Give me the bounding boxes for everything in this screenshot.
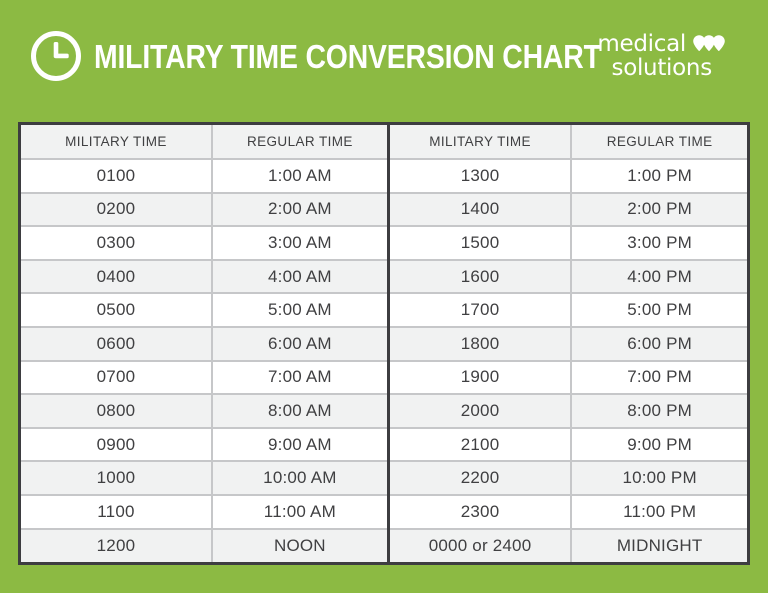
table-cell: 10:00 PM	[571, 461, 747, 495]
table-cell: 2:00 PM	[571, 193, 747, 227]
table-row: 1200NOON0000 or 2400MIDNIGHT	[21, 529, 747, 563]
logo-word-solutions: solutions	[612, 56, 712, 80]
table-cell: 6:00 AM	[212, 327, 388, 361]
table-cell: 1300	[388, 159, 571, 193]
logo-top-row: medical	[597, 32, 726, 56]
table-cell: 0000 or 2400	[388, 529, 571, 563]
table-cell: 5:00 AM	[212, 293, 388, 327]
table-cell: 11:00 PM	[571, 495, 747, 529]
table-cell: 6:00 PM	[571, 327, 747, 361]
table-cell: 1200	[21, 529, 212, 563]
table-cell: 0100	[21, 159, 212, 193]
table-cell: 11:00 AM	[212, 495, 388, 529]
table-cell: 4:00 PM	[571, 260, 747, 294]
table-cell: 1100	[21, 495, 212, 529]
table-cell: 8:00 AM	[212, 394, 388, 428]
table-cell: MIDNIGHT	[571, 529, 747, 563]
table-row: 02002:00 AM14002:00 PM	[21, 193, 747, 227]
table-cell: 10:00 AM	[212, 461, 388, 495]
table-row: 03003:00 AM15003:00 PM	[21, 226, 747, 260]
table-cell: 4:00 AM	[212, 260, 388, 294]
table-cell: 3:00 AM	[212, 226, 388, 260]
clock-icon	[30, 30, 82, 82]
map-pins-icon	[692, 34, 726, 54]
table-cell: 0500	[21, 293, 212, 327]
table-cell: 1800	[388, 327, 571, 361]
table-cell: 0900	[21, 428, 212, 462]
table-row: 04004:00 AM16004:00 PM	[21, 260, 747, 294]
table-cell: 2300	[388, 495, 571, 529]
table-cell: 7:00 AM	[212, 361, 388, 395]
page-title: MILITARY TIME CONVERSION CHART	[94, 40, 601, 73]
column-header-military-time-am: MILITARY TIME	[21, 125, 212, 159]
table-cell: 9:00 PM	[571, 428, 747, 462]
table-cell: 8:00 PM	[571, 394, 747, 428]
table-cell: 0400	[21, 260, 212, 294]
table-cell: 1000	[21, 461, 212, 495]
table-cell: 0800	[21, 394, 212, 428]
table-cell: 0600	[21, 327, 212, 361]
table-cell: 1600	[388, 260, 571, 294]
table-row: 100010:00 AM220010:00 PM	[21, 461, 747, 495]
page-header: MILITARY TIME CONVERSION CHART medical s…	[0, 0, 768, 112]
logo-word-medical: medical	[597, 32, 686, 56]
table-row: 06006:00 AM18006:00 PM	[21, 327, 747, 361]
table-row: 07007:00 AM19007:00 PM	[21, 361, 747, 395]
table-cell: 0700	[21, 361, 212, 395]
table-row: 05005:00 AM17005:00 PM	[21, 293, 747, 327]
table-cell: 2:00 AM	[212, 193, 388, 227]
table-cell: 1:00 PM	[571, 159, 747, 193]
table-cell: 0300	[21, 226, 212, 260]
table-cell: 2100	[388, 428, 571, 462]
military-time-conversion-chart-page: MILITARY TIME CONVERSION CHART medical s…	[0, 0, 768, 593]
table-header-row: MILITARY TIME REGULAR TIME MILITARY TIME…	[21, 125, 747, 159]
medical-solutions-logo: medical solutions	[597, 32, 740, 79]
column-header-regular-time-pm: REGULAR TIME	[571, 125, 747, 159]
column-header-military-time-pm: MILITARY TIME	[388, 125, 571, 159]
table-cell: 3:00 PM	[571, 226, 747, 260]
table-row: 08008:00 AM20008:00 PM	[21, 394, 747, 428]
table-cell: NOON	[212, 529, 388, 563]
table-cell: 9:00 AM	[212, 428, 388, 462]
military-time-conversion-table: MILITARY TIME REGULAR TIME MILITARY TIME…	[21, 125, 747, 562]
table-cell: 0200	[21, 193, 212, 227]
column-header-regular-time-am: REGULAR TIME	[212, 125, 388, 159]
table-cell: 2200	[388, 461, 571, 495]
table-cell: 2000	[388, 394, 571, 428]
table-row: 110011:00 AM230011:00 PM	[21, 495, 747, 529]
table-row: 09009:00 AM21009:00 PM	[21, 428, 747, 462]
header-title-group: MILITARY TIME CONVERSION CHART	[30, 30, 587, 82]
table-body: 01001:00 AM13001:00 PM02002:00 AM14002:0…	[21, 159, 747, 562]
table-cell: 7:00 PM	[571, 361, 747, 395]
table-cell: 1900	[388, 361, 571, 395]
table-cell: 1:00 AM	[212, 159, 388, 193]
table-cell: 1400	[388, 193, 571, 227]
table-cell: 1700	[388, 293, 571, 327]
table-cell: 5:00 PM	[571, 293, 747, 327]
table-cell: 1500	[388, 226, 571, 260]
table-header: MILITARY TIME REGULAR TIME MILITARY TIME…	[21, 125, 747, 159]
table-row: 01001:00 AM13001:00 PM	[21, 159, 747, 193]
conversion-table-container: MILITARY TIME REGULAR TIME MILITARY TIME…	[18, 122, 750, 565]
